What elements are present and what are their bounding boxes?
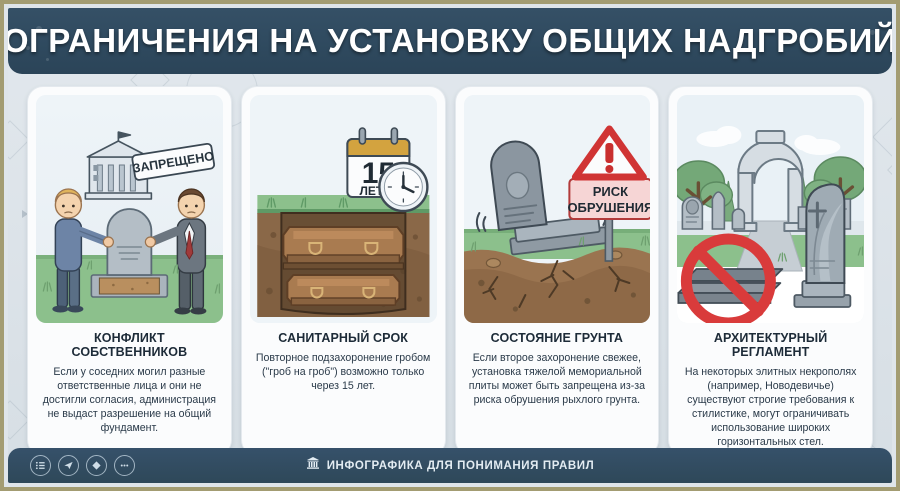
card-title: СОСТОЯНИЕ ГРУНТА xyxy=(491,332,623,346)
ellipsis-icon[interactable] xyxy=(114,455,135,476)
card-sanitary-term[interactable]: 15 ЛЕТ xyxy=(241,86,446,456)
card-body: Если второе захоронение свежее, установк… xyxy=(464,351,651,407)
poster-inner: ОГРАНИЧЕНИЯ НА УСТАНОВКУ ОБЩИХ НАДГРОБИЙ xyxy=(8,8,892,483)
elite-necropolis-style-rules-illustration xyxy=(677,95,864,323)
card-title: САНИТАРНЫЙ СРОК xyxy=(278,332,408,346)
footer-bar: ИНФОГРАФИКА ДЛЯ ПОНИМАНИЯ ПРАВИЛ xyxy=(8,448,892,483)
cards-row: ЗАПРЕЩЕНО xyxy=(8,86,892,456)
stacked-coffins-underground-illustration: 15 ЛЕТ xyxy=(250,95,437,323)
tilting-headstone-loose-soil-illustration: РИСК ОБРУШЕНИЯ xyxy=(464,95,651,323)
telegram-send-icon[interactable] xyxy=(58,455,79,476)
page-title: ОГРАНИЧЕНИЯ НА УСТАНОВКУ ОБЩИХ НАДГРОБИЙ xyxy=(8,22,892,60)
svg-text:РИСК: РИСК xyxy=(592,184,627,199)
card-conflict[interactable]: ЗАПРЕЩЕНО xyxy=(27,86,232,456)
card-architectural-regulation[interactable]: АРХИТЕКТУРНЫЙ РЕГЛАМЕНТ На некоторых эли… xyxy=(668,86,873,456)
card-body: Повторное подзахоронение гробом ("гроб н… xyxy=(250,351,437,393)
header-bar: ОГРАНИЧЕНИЯ НА УСТАНОВКУ ОБЩИХ НАДГРОБИЙ xyxy=(8,8,892,74)
card-title: АРХИТЕКТУРНЫЙ РЕГЛАМЕНТ xyxy=(677,332,864,360)
building-icon xyxy=(306,456,320,475)
card-soil-condition[interactable]: РИСК ОБРУШЕНИЯ С xyxy=(455,86,660,456)
two-owners-dispute-illustration: ЗАПРЕЩЕНО xyxy=(36,95,223,323)
svg-text:ОБРУШЕНИЯ: ОБРУШЕНИЯ xyxy=(567,200,650,215)
footer-label: ИНФОГРАФИКА ДЛЯ ПОНИМАНИЯ ПРАВИЛ xyxy=(327,460,595,472)
footer-center: ИНФОГРАФИКА ДЛЯ ПОНИМАНИЯ ПРАВИЛ xyxy=(8,456,892,475)
card-body: Если у соседних могил разные ответственн… xyxy=(36,365,223,435)
card-title: КОНФЛИКТ СОБСТВЕННИКОВ xyxy=(36,332,223,360)
infographic-poster: ОГРАНИЧЕНИЯ НА УСТАНОВКУ ОБЩИХ НАДГРОБИЙ xyxy=(0,0,900,491)
footer-icon-group xyxy=(8,455,135,476)
list-menu-icon[interactable] xyxy=(30,455,51,476)
card-body: На некоторых элитных некрополях (наприме… xyxy=(677,365,864,449)
diamond-icon[interactable] xyxy=(86,455,107,476)
